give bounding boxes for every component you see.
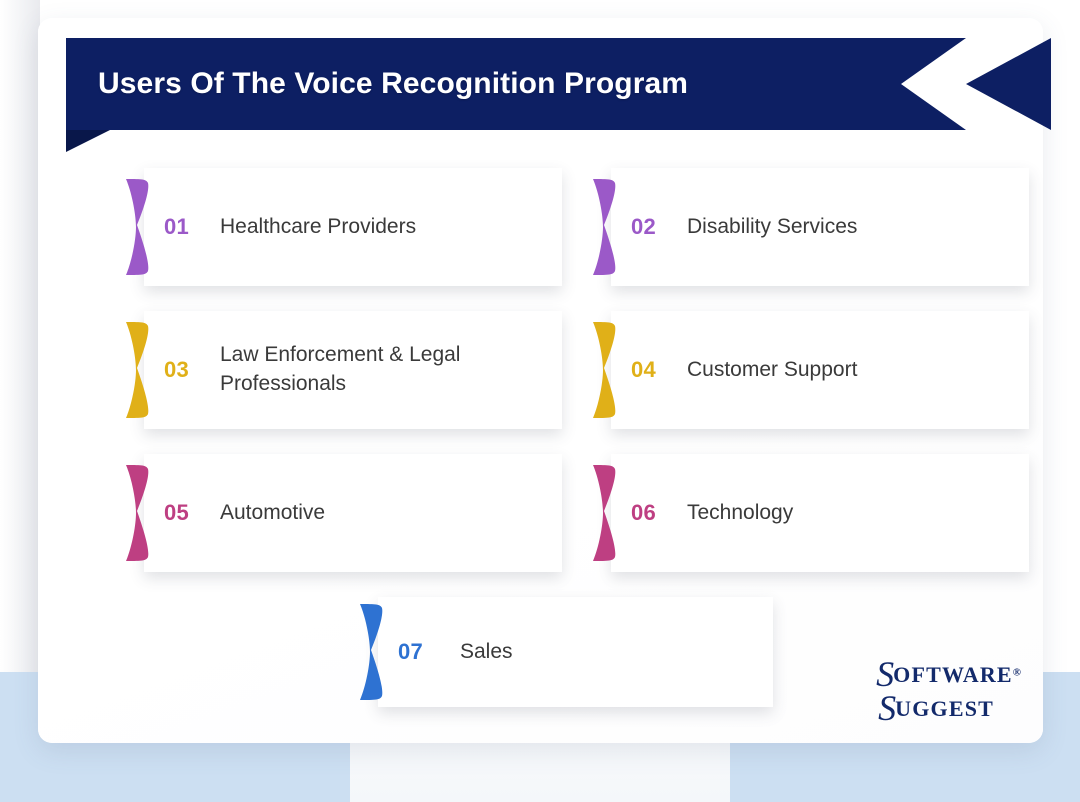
card-body: 02 Disability Services (631, 213, 1011, 242)
card-number: 06 (631, 500, 687, 526)
logo-line-2: SUGGEST (878, 692, 1021, 725)
logo-s-glyph: S (878, 688, 895, 728)
decorative-left-strip (0, 0, 40, 690)
logo-line-1: SOFTWARE® (876, 658, 1021, 691)
card-row: 01 Healthcare Providers 02 (106, 168, 1056, 311)
card-number: 04 (631, 357, 687, 383)
card-number: 02 (631, 214, 687, 240)
card-label: Automotive (220, 499, 325, 528)
card-body: 03 Law Enforcement & Legal Professionals (164, 341, 544, 399)
card-label: Sales (460, 638, 513, 667)
logo-software-text: OFTWARE (893, 662, 1013, 687)
card-item[interactable]: 06 Technology (611, 454, 1029, 572)
bracket-accent-icon (122, 177, 154, 277)
card-cell: 02 Disability Services (611, 168, 1029, 286)
card-item[interactable]: 02 Disability Services (611, 168, 1029, 286)
bracket-accent-icon (589, 463, 621, 563)
card-row: 03 Law Enforcement & Legal Professionals (106, 311, 1056, 454)
card-cell: 05 Automotive (144, 454, 562, 572)
card-cell: 07 Sales (378, 597, 773, 707)
bracket-accent-icon (122, 320, 154, 420)
bracket-accent-icon (122, 463, 154, 563)
card-body: 06 Technology (631, 499, 1011, 528)
card-label: Customer Support (687, 356, 857, 385)
card-body: 04 Customer Support (631, 356, 1011, 385)
card-label: Disability Services (687, 213, 857, 242)
card-row: 05 Automotive 06 T (106, 454, 1056, 597)
content-panel: Users Of The Voice Recognition Program 0… (38, 18, 1043, 743)
card-label: Healthcare Providers (220, 213, 416, 242)
header-ribbon: Users Of The Voice Recognition Program (66, 38, 1051, 130)
card-cell: 06 Technology (611, 454, 1029, 572)
infographic-canvas: Users Of The Voice Recognition Program 0… (0, 0, 1080, 802)
card-item[interactable]: 07 Sales (378, 597, 773, 707)
card-item[interactable]: 05 Automotive (144, 454, 562, 572)
bracket-accent-icon (589, 320, 621, 420)
card-cell: 04 Customer Support (611, 311, 1029, 429)
card-number: 03 (164, 357, 220, 383)
card-item[interactable]: 04 Customer Support (611, 311, 1029, 429)
bracket-accent-icon (356, 602, 388, 702)
card-number: 01 (164, 214, 220, 240)
card-cell: 03 Law Enforcement & Legal Professionals (144, 311, 562, 429)
card-item[interactable]: 01 Healthcare Providers (144, 168, 562, 286)
card-label: Technology (687, 499, 793, 528)
registered-trademark-icon: ® (1013, 666, 1021, 678)
card-number: 07 (398, 639, 460, 665)
ribbon-fold-tail (66, 130, 110, 152)
cards-grid: 01 Healthcare Providers 02 (106, 168, 1056, 717)
card-label: Law Enforcement & Legal Professionals (220, 341, 535, 399)
page-title: Users Of The Voice Recognition Program (98, 38, 688, 130)
logo-suggest-text: UGGEST (895, 696, 994, 721)
card-body: 05 Automotive (164, 499, 544, 528)
card-body: 01 Healthcare Providers (164, 213, 544, 242)
bracket-accent-icon (589, 177, 621, 277)
card-number: 05 (164, 500, 220, 526)
softwaresuggest-logo: SOFTWARE® SUGGEST (876, 658, 1021, 725)
card-item[interactable]: 03 Law Enforcement & Legal Professionals (144, 311, 562, 429)
card-cell: 01 Healthcare Providers (144, 168, 562, 286)
card-body: 07 Sales (398, 638, 755, 667)
